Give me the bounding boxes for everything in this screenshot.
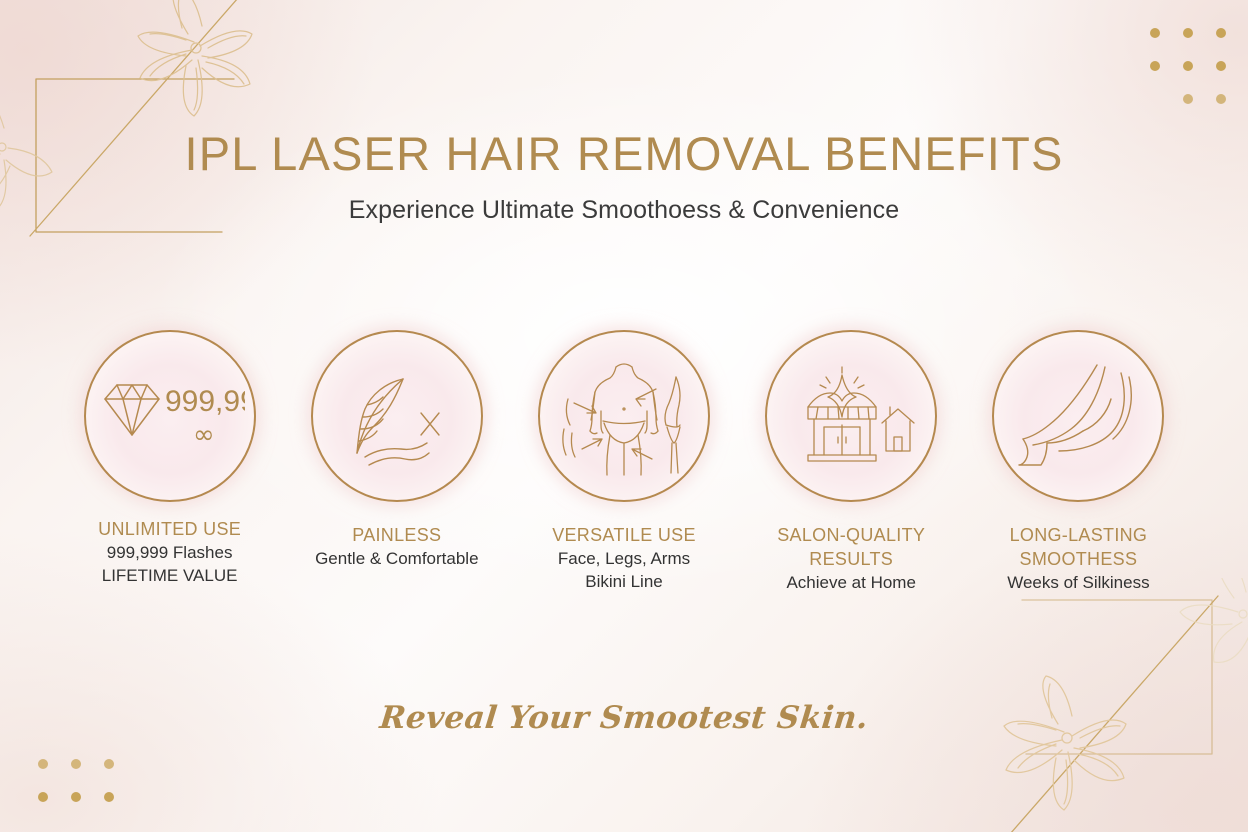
benefit-icon-circle [311, 330, 483, 502]
feather-no-pain-icon [337, 361, 457, 471]
dot [1150, 28, 1160, 38]
dot [104, 792, 114, 802]
diamond-infinity-icon: 999,999 ∞ [95, 361, 245, 471]
benefit-icon-circle: 999,999 ∞ [84, 330, 256, 502]
page-title: IPL LASER HAIR REMOVAL BENEFITS [0, 128, 1248, 180]
dot [1183, 61, 1193, 71]
benefit-description: Gentle & Comfortable [315, 548, 478, 571]
benefit-item-painless: PAINLESS Gentle & Comfortable [283, 330, 510, 571]
dot-grid-bottom-left [38, 759, 114, 802]
benefit-title: SALON-QUALITY RESULTS [777, 524, 925, 572]
benefit-title-line: RESULTS [777, 548, 925, 572]
dot [38, 792, 48, 802]
benefits-row: 999,999 ∞ UNLIMITED USE 999,999 Flashes … [56, 330, 1192, 594]
benefit-desc-line: Bikini Line [552, 571, 696, 594]
smooth-legs-icon [1013, 359, 1143, 474]
benefit-title-line: LONG-LASTING [1007, 524, 1149, 548]
benefit-description: Weeks of Silkiness [1007, 572, 1149, 595]
benefit-description: 999,999 Flashes LIFETIME VALUE [98, 542, 241, 587]
dot [1150, 94, 1160, 104]
dot-grid-top-right [1150, 28, 1226, 104]
benefit-title-line: SALON-QUALITY [777, 524, 925, 548]
dot [1216, 94, 1226, 104]
tagline: Reveal Your Smootest Skin. [0, 700, 1248, 736]
benefit-icon-circle [538, 330, 710, 502]
dot [1183, 94, 1193, 104]
benefit-title: VERSATILE USE [552, 524, 696, 548]
dot [1183, 28, 1193, 38]
benefit-icon-circle [765, 330, 937, 502]
dot [1216, 28, 1226, 38]
benefit-caption: PAINLESS Gentle & Comfortable [315, 524, 478, 571]
benefit-item-unlimited-use: 999,999 ∞ UNLIMITED USE 999,999 Flashes … [56, 330, 283, 587]
benefit-icon-circle [992, 330, 1164, 502]
benefit-title: PAINLESS [315, 524, 478, 548]
benefit-title-line: SMOOTHESS [1007, 548, 1149, 572]
infinity-symbol: ∞ [193, 420, 215, 450]
benefit-item-salon-quality: SALON-QUALITY RESULTS Achieve at Home [738, 330, 965, 594]
dot [71, 759, 81, 769]
dot [104, 759, 114, 769]
benefit-item-long-lasting: LONG-LASTING SMOOTHESS Weeks of Silkines… [965, 330, 1192, 594]
page-subtitle: Experience Ultimate Smoothoess & Conveni… [0, 196, 1248, 225]
benefit-description: Face, Legs, Arms Bikini Line [552, 548, 696, 593]
benefit-title: LONG-LASTING SMOOTHESS [1007, 524, 1149, 572]
dot [38, 759, 48, 769]
benefit-caption: SALON-QUALITY RESULTS Achieve at Home [777, 524, 925, 594]
benefit-caption: VERSATILE USE Face, Legs, Arms Bikini Li… [552, 524, 696, 593]
benefit-caption: LONG-LASTING SMOOTHESS Weeks of Silkines… [1007, 524, 1149, 594]
salon-at-home-icon [786, 361, 916, 471]
flash-count-label: 999,999 [165, 385, 245, 418]
dot [1216, 61, 1226, 71]
body-areas-icon [554, 351, 694, 481]
benefit-title: UNLIMITED USE [98, 518, 241, 542]
benefit-desc-line: Weeks of Silkiness [1007, 572, 1149, 595]
benefit-item-versatile-use: VERSATILE USE Face, Legs, Arms Bikini Li… [510, 330, 737, 593]
benefit-desc-line: Achieve at Home [777, 572, 925, 595]
benefit-description: Achieve at Home [777, 572, 925, 595]
benefit-desc-line: LIFETIME VALUE [98, 565, 241, 588]
benefit-caption: UNLIMITED USE 999,999 Flashes LIFETIME V… [98, 518, 241, 587]
dot [1150, 61, 1160, 71]
dot [71, 792, 81, 802]
benefit-desc-line: Gentle & Comfortable [315, 548, 478, 571]
benefit-desc-line: 999,999 Flashes [98, 542, 241, 565]
benefit-desc-line: Face, Legs, Arms [552, 548, 696, 571]
poster-canvas: IPL LASER HAIR REMOVAL BENEFITS Experien… [0, 0, 1248, 832]
header-block: IPL LASER HAIR REMOVAL BENEFITS Experien… [0, 128, 1248, 225]
